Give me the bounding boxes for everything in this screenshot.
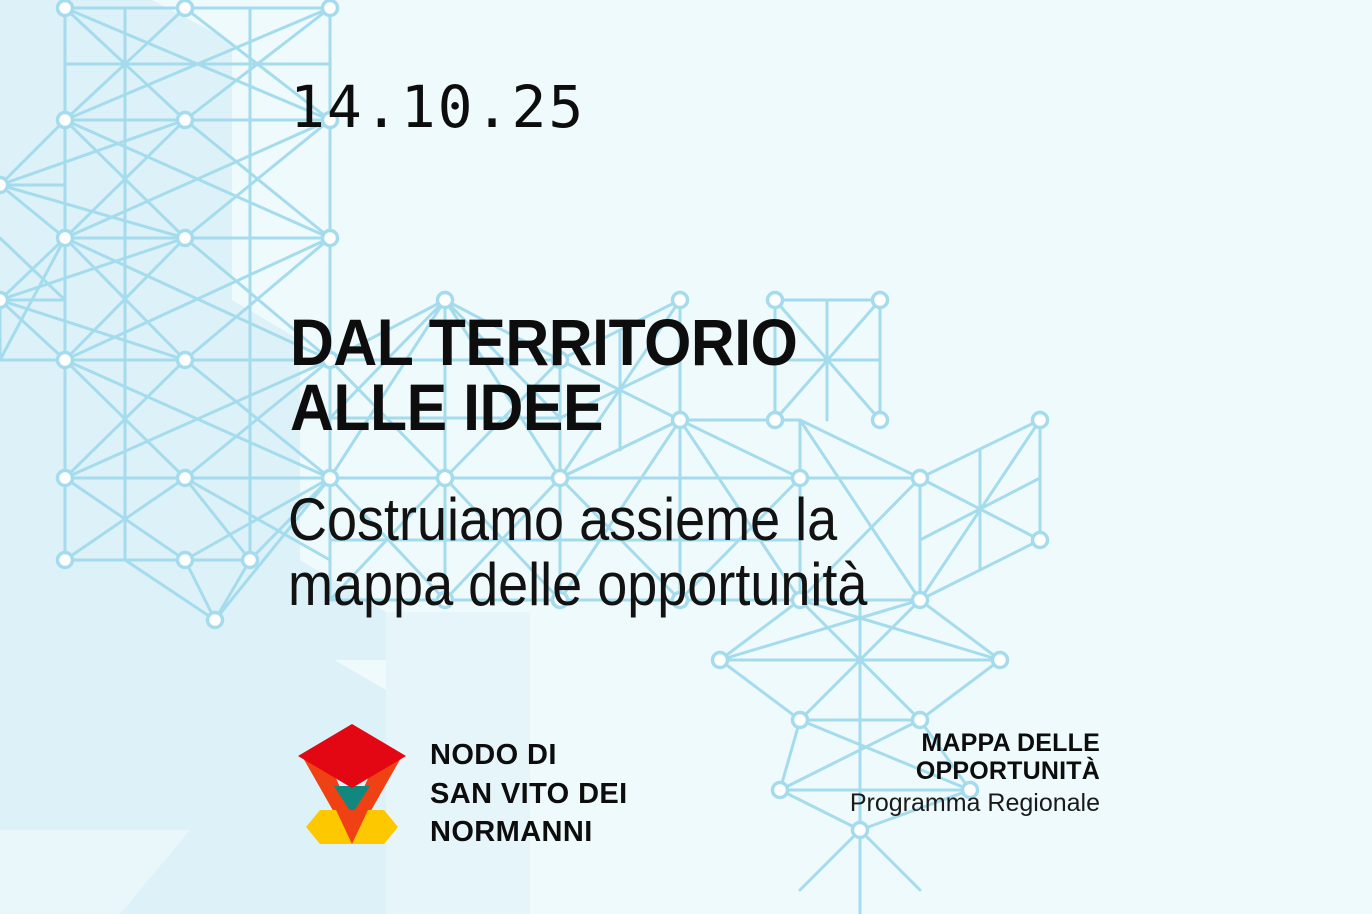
subtitle-line-2: mappa delle opportunità: [288, 553, 1026, 618]
region-silhouette: [0, 0, 1372, 914]
nodo-pin-logo-mark: [296, 722, 408, 852]
programme-title: MAPPA DELLE OPPORTUNITÀ: [850, 730, 1100, 785]
page-title: DAL TERRITORIO ALLE IDEE: [290, 310, 989, 439]
nodo-logo-text: NODO DI SAN VITO DEI NORMANNI: [430, 722, 628, 852]
diamond-red-shape: [298, 724, 406, 788]
headline-line-1: DAL TERRITORIO: [290, 305, 797, 379]
logo-text-line-3: NORMANNI: [430, 813, 628, 852]
poster-canvas: 14.10.25 DAL TERRITORIO ALLE IDEE Costru…: [0, 0, 1372, 914]
programme-title-line-1: MAPPA DELLE: [850, 730, 1100, 758]
subtitle-line-1: Costruiamo assieme la: [288, 488, 1026, 553]
programme-title-line-2: OPPORTUNITÀ: [850, 758, 1100, 786]
logo-text-line-2: SAN VITO DEI: [430, 775, 628, 814]
logo-text-line-1: NODO DI: [430, 736, 628, 775]
headline-line-2: ALLE IDEE: [290, 375, 989, 440]
nodo-logo-lockup: NODO DI SAN VITO DEI NORMANNI: [296, 722, 628, 852]
programme-block: MAPPA DELLE OPPORTUNITÀ Programma Region…: [850, 730, 1100, 819]
page-subtitle: Costruiamo assieme la mappa delle opport…: [288, 488, 1026, 618]
network-mesh-pattern: [0, 0, 1372, 914]
event-date: 14.10.25: [290, 78, 585, 136]
programme-subtitle: Programma Regionale: [850, 788, 1100, 819]
